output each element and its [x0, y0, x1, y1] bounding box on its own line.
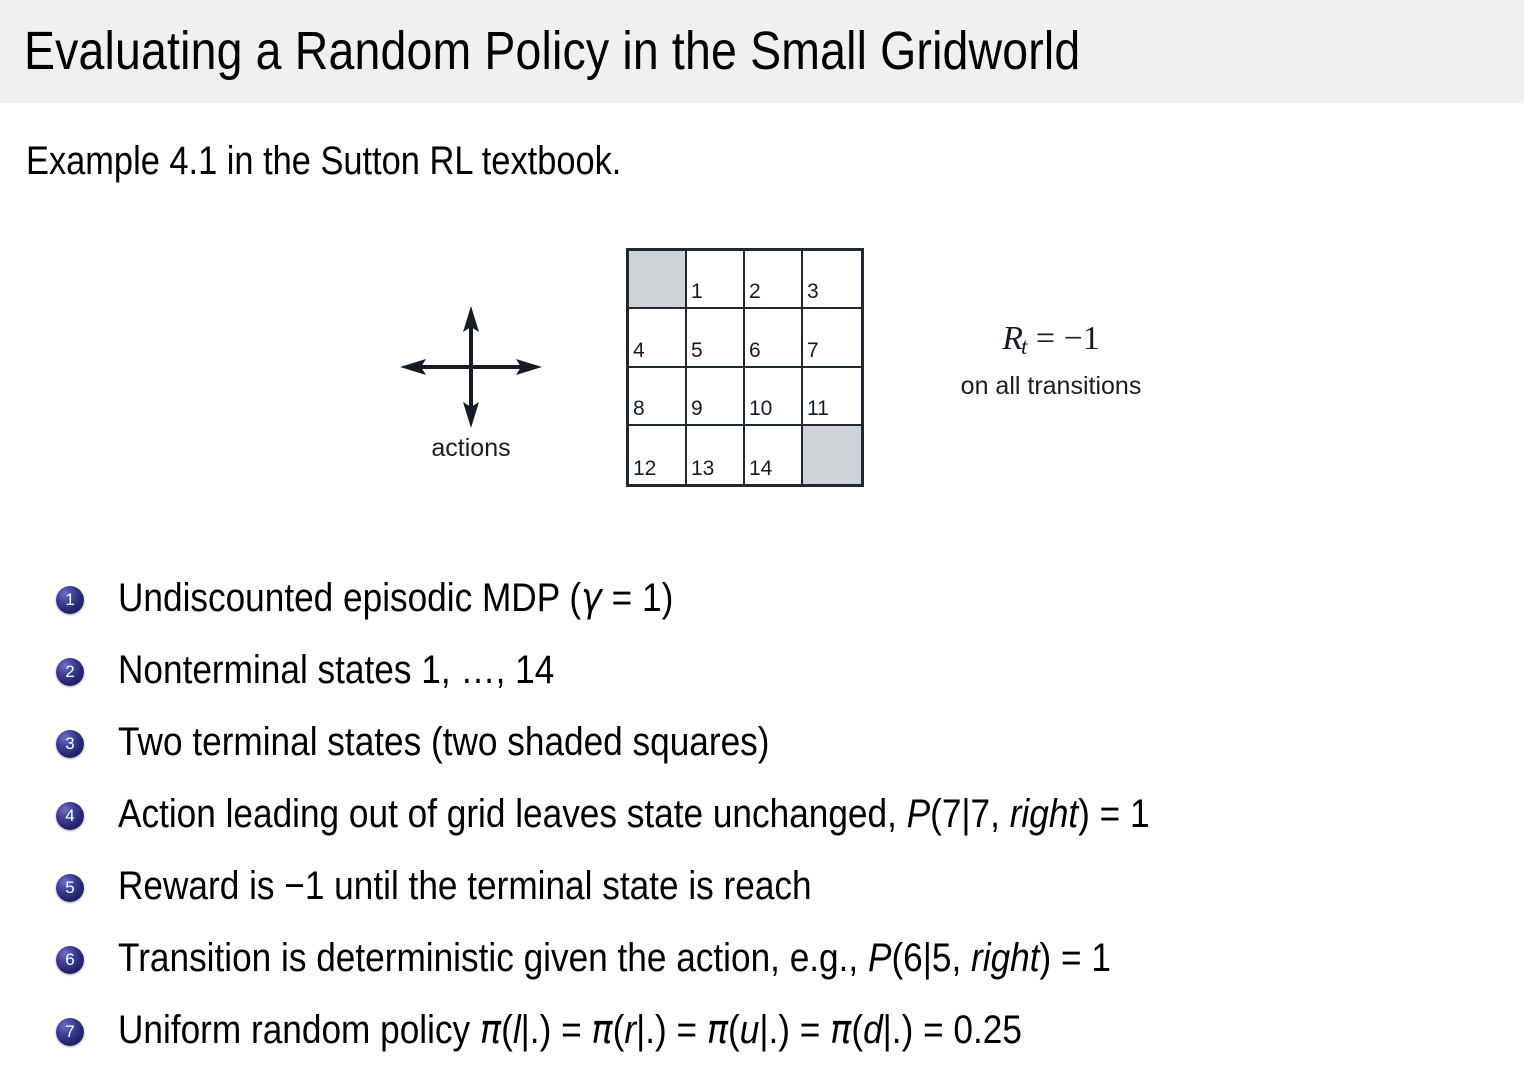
grid-cell-8: 8	[629, 368, 687, 426]
cell-label: 10	[749, 398, 772, 419]
list-item: 5 Reward is −1 until the terminal state …	[0, 860, 1524, 932]
list-item: 1 Undiscounted episodic MDP (γ = 1)	[0, 572, 1524, 644]
subtitle-text: Example 4.1 in the Sutton RL textbook.	[26, 135, 621, 187]
list-item-text-3: Two terminal states (two shaded squares)	[118, 716, 770, 768]
list-item-text-2: Nonterminal states 1, …, 14	[118, 644, 554, 696]
cell-label: 2	[749, 281, 761, 302]
cell-label: 6	[749, 340, 761, 361]
reward-symbol: R	[1002, 320, 1023, 357]
cell-label: 14	[749, 458, 772, 479]
list-marker-1: 1	[56, 586, 84, 614]
list-marker-7: 7	[56, 1018, 84, 1046]
reward-note: Rt = −1 on all transitions	[906, 318, 1196, 402]
list-marker-5: 5	[56, 874, 84, 902]
grid-cell-terminal-bottom-right	[803, 426, 861, 484]
cell-label: 8	[633, 398, 645, 419]
grid-cell-3: 3	[803, 251, 861, 309]
cell-label: 13	[691, 458, 714, 479]
reward-formula: Rt = −1	[906, 318, 1196, 368]
grid-cell-7: 7	[803, 309, 861, 367]
list-marker-3: 3	[56, 730, 84, 758]
grid-cell-6: 6	[745, 309, 803, 367]
grid-cell-terminal-top-left	[629, 251, 687, 309]
list-item-text-7: Uniform random policy π(l|.) = π(r|.) = …	[118, 1004, 1022, 1056]
list-item: 7 Uniform random policy π(l|.) = π(r|.) …	[0, 1004, 1524, 1076]
grid-cell-13: 13	[687, 426, 745, 484]
figure-region: actions 1 2 3 4 5 6 7 8 9 10 11 12 13 14…	[0, 230, 1524, 520]
list-item-text-5: Reward is −1 until the terminal state is…	[118, 860, 812, 912]
cell-label: 5	[691, 340, 703, 361]
cell-label: 7	[807, 340, 819, 361]
grid-cell-14: 14	[745, 426, 803, 484]
list-item: 6 Transition is deterministic given the …	[0, 932, 1524, 1004]
cell-label: 12	[633, 458, 656, 479]
list-item-text-4: Action leading out of grid leaves state …	[118, 788, 1150, 840]
enumerated-list: 1 Undiscounted episodic MDP (γ = 1) 2 No…	[0, 572, 1524, 1076]
actions-figure: actions	[398, 302, 544, 478]
cell-label: 11	[807, 398, 829, 419]
grid-cell-9: 9	[687, 368, 745, 426]
grid-cell-2: 2	[745, 251, 803, 309]
list-item: 3 Two terminal states (two shaded square…	[0, 716, 1524, 788]
list-item-text-6: Transition is deterministic given the ac…	[118, 932, 1111, 984]
reward-subtext: on all transitions	[906, 370, 1196, 402]
grid-cell-4: 4	[629, 309, 687, 367]
list-marker-4: 4	[56, 802, 84, 830]
list-marker-6: 6	[56, 946, 84, 974]
list-item: 4 Action leading out of grid leaves stat…	[0, 788, 1524, 860]
grid-cell-1: 1	[687, 251, 745, 309]
grid-cell-11: 11	[803, 368, 861, 426]
gridworld-grid: 1 2 3 4 5 6 7 8 9 10 11 12 13 14	[626, 248, 864, 487]
grid-cell-10: 10	[745, 368, 803, 426]
four-way-arrow-cross-icon	[398, 302, 544, 432]
cell-label: 4	[633, 340, 645, 361]
list-item-text-1: Undiscounted episodic MDP (γ = 1)	[118, 572, 673, 624]
grid-cell-12: 12	[629, 426, 687, 484]
list-item: 2 Nonterminal states 1, …, 14	[0, 644, 1524, 716]
actions-label: actions	[398, 434, 544, 463]
list-marker-2: 2	[56, 658, 84, 686]
page-title: Evaluating a Random Policy in the Small …	[24, 18, 1080, 84]
grid-cell-5: 5	[687, 309, 745, 367]
cell-label: 9	[691, 398, 703, 419]
cell-label: 3	[807, 281, 819, 302]
cell-label: 1	[691, 281, 703, 302]
reward-value: = −1	[1027, 320, 1099, 357]
